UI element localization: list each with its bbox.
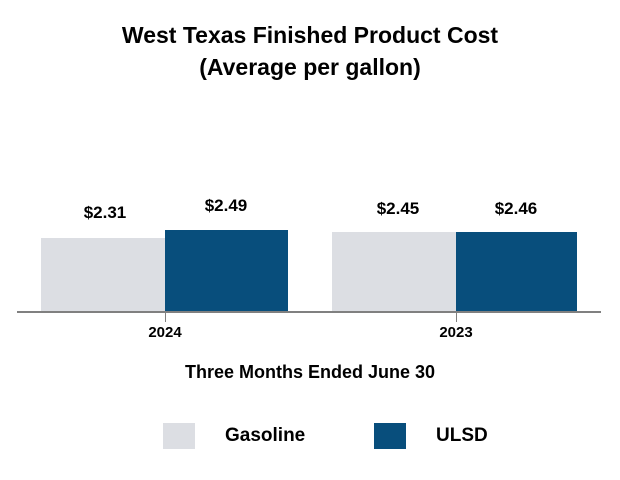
bar-label-2024-gasoline: $2.31: [65, 203, 145, 223]
bar-label-2023-gasoline: $2.45: [358, 199, 438, 219]
legend-swatch-gasoline-icon: [163, 423, 195, 449]
bar-2023-ulsd[interactable]: [456, 232, 577, 311]
plot-area: $2.31 $2.49 $2.45 $2.46 2024 2023 Three …: [0, 0, 620, 480]
chart-container: West Texas Finished Product Cost (Averag…: [0, 0, 620, 480]
x-axis-line: [17, 311, 601, 313]
legend-label-ulsd: ULSD: [436, 425, 488, 447]
x-axis-tick-2024: [165, 313, 166, 322]
legend-item-gasoline[interactable]: Gasoline: [163, 420, 305, 452]
bar-2024-gasoline[interactable]: [41, 238, 165, 311]
bar-label-2024-ulsd: $2.49: [186, 196, 266, 216]
x-axis-title: Three Months Ended June 30: [0, 362, 620, 383]
legend-swatch-ulsd-icon: [374, 423, 406, 449]
bar-2023-gasoline[interactable]: [332, 232, 456, 311]
chart-legend: Gasoline ULSD: [0, 420, 620, 460]
bar-2024-ulsd[interactable]: [165, 230, 288, 311]
x-axis-label-2023: 2023: [416, 324, 496, 341]
x-axis-label-2024: 2024: [125, 324, 205, 341]
legend-item-ulsd[interactable]: ULSD: [374, 420, 488, 452]
bar-label-2023-ulsd: $2.46: [476, 199, 556, 219]
x-axis-tick-2023: [456, 313, 457, 322]
legend-label-gasoline: Gasoline: [225, 425, 305, 447]
